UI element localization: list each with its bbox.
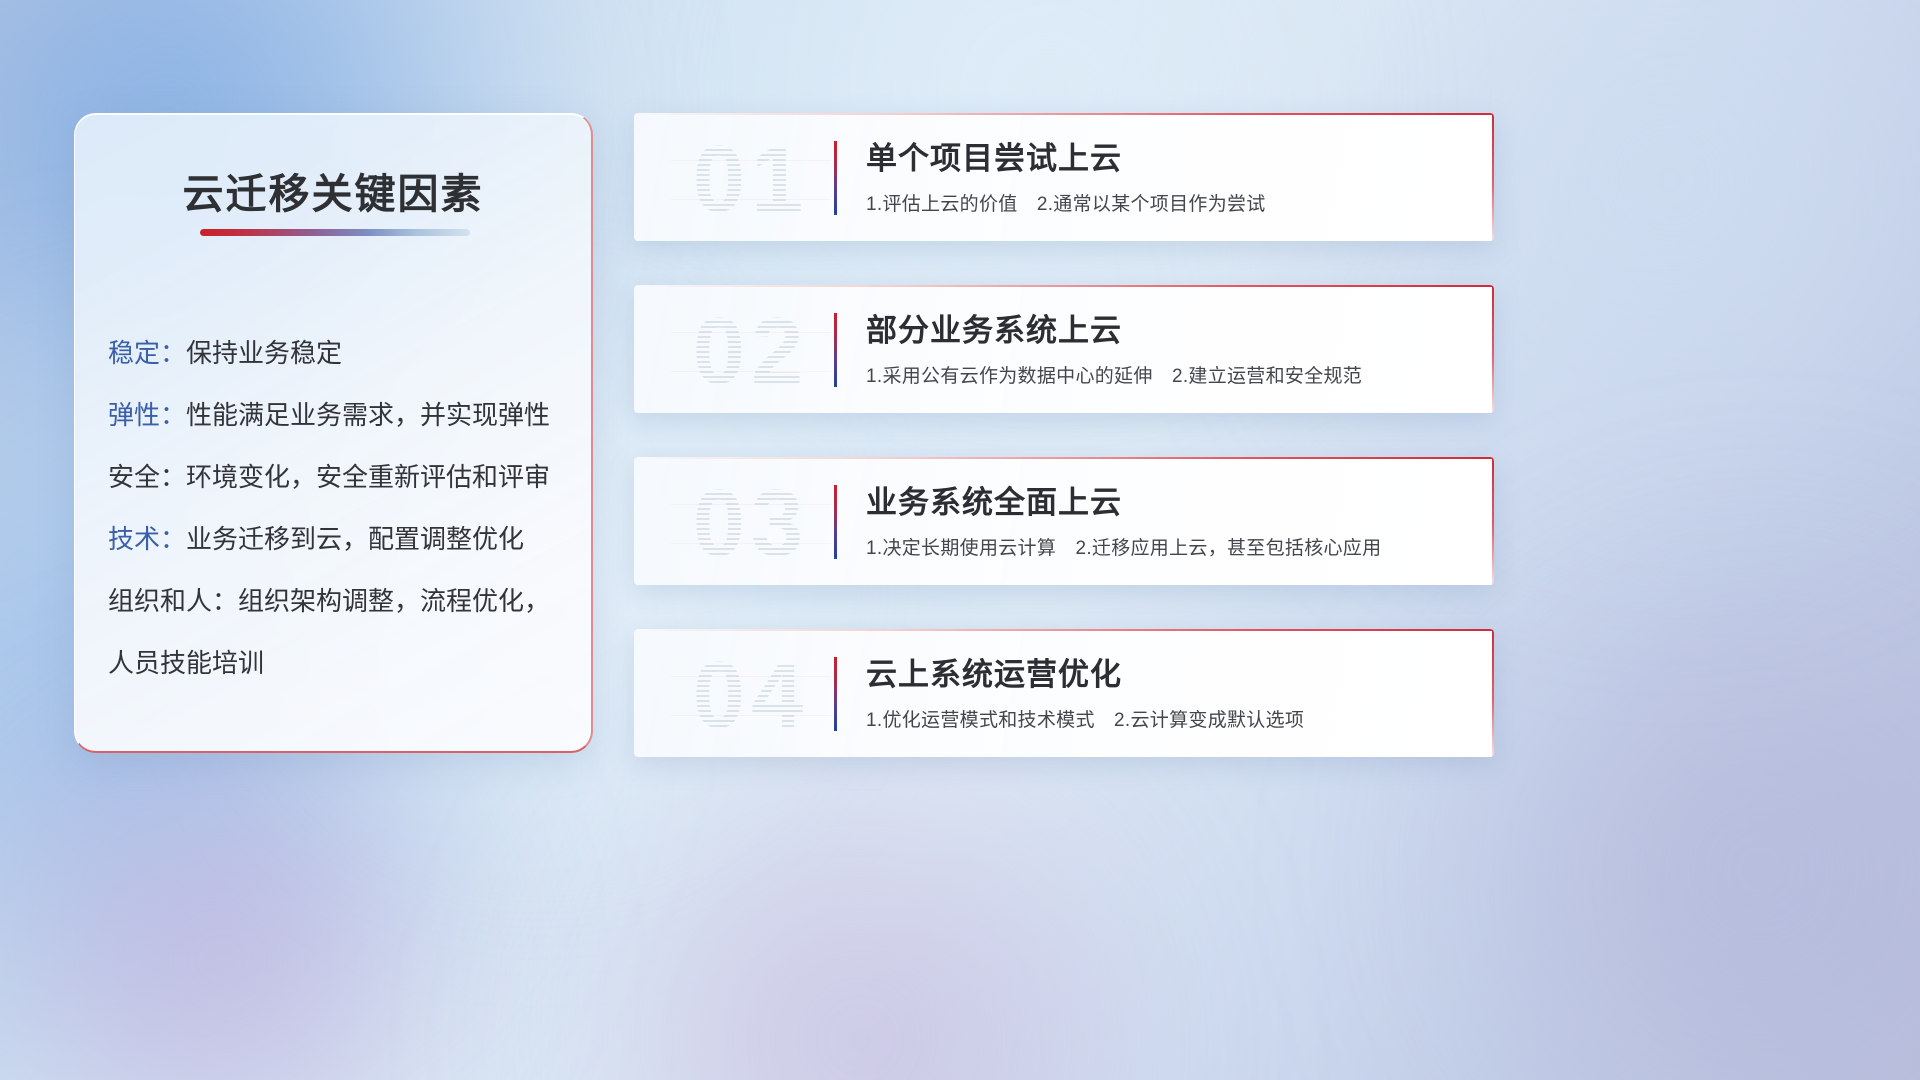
factor-row: 弹性：性能满足业务需求，并实现弹性 — [108, 384, 567, 446]
factor-value: 组织架构调整，流程优化， — [238, 586, 550, 616]
factor-row: 稳定：保持业务稳定 — [108, 322, 567, 384]
stage-card[interactable]: 01 单个项目尝试上云 1.评估上云的价值 2.通常以某个项目作为尝试 — [634, 113, 1494, 241]
factor-value: 人员技能培训 — [108, 648, 264, 678]
stage-description: 1.决定长期使用云计算 2.迁移应用上云，甚至包括核心应用 — [866, 533, 1381, 560]
stage-title: 业务系统全面上云 — [866, 477, 1122, 522]
stage-description: 1.采用公有云作为数据中心的延伸 2.建立运营和安全规范 — [866, 361, 1362, 388]
factor-value: 环境变化，安全重新评估和评审 — [186, 462, 550, 492]
stage-card[interactable]: 03 业务系统全面上云 1.决定长期使用云计算 2.迁移应用上云，甚至包括核心应… — [634, 457, 1494, 585]
stage-divider-bar — [834, 485, 837, 559]
card-top-accent — [634, 113, 1494, 115]
card-top-accent — [634, 285, 1494, 287]
card-right-accent — [1492, 629, 1494, 757]
stage-divider-bar — [834, 313, 837, 387]
factor-value: 性能满足业务需求，并实现弹性 — [186, 400, 550, 430]
stage-number-ghost: 03 — [656, 473, 846, 573]
factor-row: 技术：业务迁移到云，配置调整优化 — [108, 508, 567, 570]
stage-title: 部分业务系统上云 — [866, 305, 1122, 350]
stage-divider-bar — [834, 657, 837, 731]
factor-key: 安全： — [108, 462, 186, 492]
card-right-accent — [1492, 457, 1494, 585]
factor-key: 稳定： — [108, 338, 186, 368]
card-right-accent — [1492, 113, 1494, 241]
factor-list: 稳定：保持业务稳定 弹性：性能满足业务需求，并实现弹性 安全：环境变化，安全重新… — [108, 322, 567, 694]
card-top-accent — [634, 457, 1494, 459]
factor-row: 安全：环境变化，安全重新评估和评审 — [108, 446, 567, 508]
card-right-accent — [1492, 285, 1494, 413]
stage-number-ghost: 02 — [656, 301, 846, 401]
factor-row: 组织和人：组织架构调整，流程优化， — [108, 570, 567, 632]
stage-description: 1.评估上云的价值 2.通常以某个项目作为尝试 — [866, 189, 1266, 216]
stage-card[interactable]: 02 部分业务系统上云 1.采用公有云作为数据中心的延伸 2.建立运营和安全规范 — [634, 285, 1494, 413]
stage-title: 单个项目尝试上云 — [866, 133, 1122, 178]
stage-number-ghost: 04 — [656, 645, 846, 745]
factor-key: 组织和人： — [108, 586, 238, 616]
panel-title: 云迁移关键因素 — [75, 160, 591, 220]
factor-row: 人员技能培训 — [108, 632, 567, 694]
factor-key: 弹性： — [108, 400, 186, 430]
stage-card[interactable]: 04 云上系统运营优化 1.优化运营模式和技术模式 2.云计算变成默认选项 — [634, 629, 1494, 757]
stage-number-ghost: 01 — [656, 129, 846, 229]
key-factors-panel: 云迁移关键因素 稳定：保持业务稳定 弹性：性能满足业务需求，并实现弹性 安全：环… — [74, 113, 593, 753]
stage-description: 1.优化运营模式和技术模式 2.云计算变成默认选项 — [866, 705, 1304, 732]
factor-value: 保持业务稳定 — [186, 338, 342, 368]
title-underline-rule — [200, 229, 470, 236]
factor-key: 技术： — [108, 524, 186, 554]
stage-card-list: 01 单个项目尝试上云 1.评估上云的价值 2.通常以某个项目作为尝试 02 部… — [634, 113, 1494, 801]
stage-title: 云上系统运营优化 — [866, 649, 1122, 694]
card-top-accent — [634, 629, 1494, 631]
factor-value: 业务迁移到云，配置调整优化 — [186, 524, 524, 554]
stage-divider-bar — [834, 141, 837, 215]
